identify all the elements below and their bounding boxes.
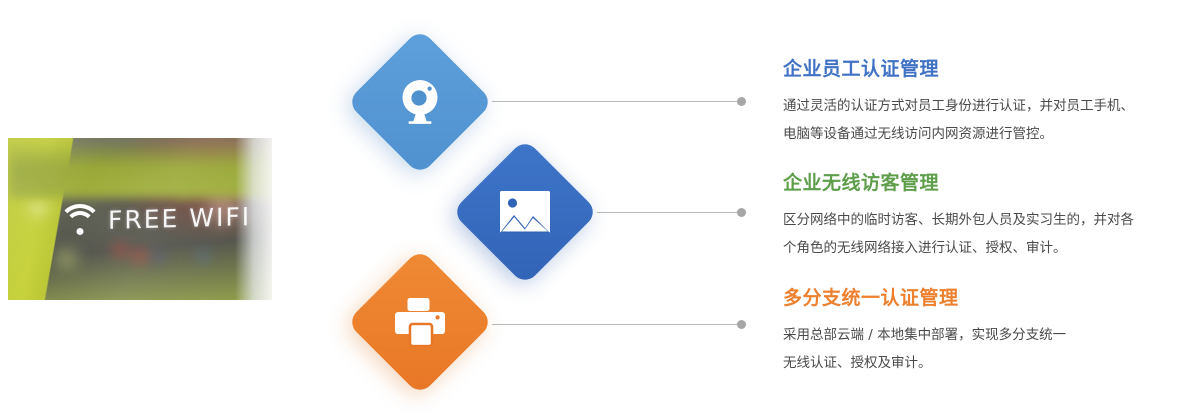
connector-dot-3: [737, 320, 746, 329]
feature-description-1: 通过灵活的认证方式对员工身份进行认证，并对员工手机、 电脑等设备通过无线访问内网…: [783, 92, 1193, 148]
connector-dot-2: [737, 208, 746, 217]
feature-description-3-line-1: 采用总部云端 / 本地集中部署，实现多分支统一: [783, 321, 1193, 349]
free-wifi-storefront-photo: FREE WIFI: [8, 138, 272, 300]
free-wifi-text: FREE WIFI: [108, 202, 251, 235]
feature-node-3[interactable]: [346, 248, 493, 395]
connector-line-1: [492, 101, 738, 102]
connector-dot-1: [737, 97, 746, 106]
feature-description-2: 区分网络中的临时访客、长期外包人员及实习生的，并对各 个角色的无线网络接入进行认…: [783, 206, 1193, 262]
printer-icon: [368, 270, 472, 374]
feature-showcase-panel: FREE WIFI: [0, 0, 1200, 418]
feature-description-1-line-2: 电脑等设备通过无线访问内网资源进行管控。: [783, 120, 1193, 148]
wifi-icon: [60, 204, 100, 238]
feature-description-2-line-2: 个角色的无线网络接入进行认证、授权、审计。: [783, 234, 1193, 262]
picture-icon: [473, 160, 577, 264]
feature-description-1-line-1: 通过灵活的认证方式对员工身份进行认证，并对员工手机、: [783, 92, 1193, 120]
feature-description-3-line-2: 无线认证、授权及审计。: [783, 349, 1193, 377]
feature-text-block-3: 多分支统一认证管理 采用总部云端 / 本地集中部署，实现多分支统一 无线认证、授…: [783, 287, 1193, 377]
feature-text-block-1: 企业员工认证管理 通过灵活的认证方式对员工身份进行认证，并对员工手机、 电脑等设…: [783, 58, 1193, 148]
feature-title-1: 企业员工认证管理: [783, 58, 1193, 81]
feature-node-1[interactable]: [346, 28, 493, 175]
feature-description-2-line-1: 区分网络中的临时访客、长期外包人员及实习生的，并对各: [783, 206, 1193, 234]
feature-title-2: 企业无线访客管理: [783, 172, 1193, 195]
feature-text-block-2: 企业无线访客管理 区分网络中的临时访客、长期外包人员及实习生的，并对各 个角色的…: [783, 172, 1193, 262]
feature-node-2[interactable]: [451, 138, 598, 285]
connector-line-2: [597, 212, 738, 213]
feature-title-3: 多分支统一认证管理: [783, 287, 1193, 310]
feature-description-3: 采用总部云端 / 本地集中部署，实现多分支统一 无线认证、授权及审计。: [783, 321, 1193, 377]
connector-line-3: [492, 324, 738, 325]
webcam-icon: [368, 50, 472, 154]
